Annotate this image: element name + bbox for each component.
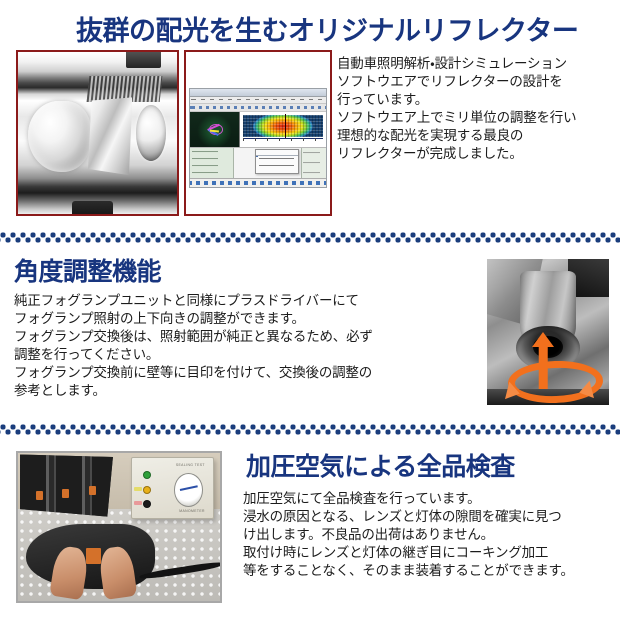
status-led-off — [143, 500, 151, 508]
dotted-divider-1 — [0, 232, 620, 244]
reflector-tab — [126, 50, 161, 68]
operator-hand-left — [49, 545, 89, 600]
lamp-connector-1 — [36, 491, 43, 500]
software-upper-panes — [190, 112, 326, 148]
heatmap-axis-ticks — [243, 138, 322, 144]
software-toolbar — [190, 104, 326, 112]
operator-hand-right — [97, 545, 136, 600]
software-menubar — [190, 97, 326, 104]
illuminance-plot — [240, 112, 326, 147]
section-body-reflector: 自動車照明解析・設計シミュレーション ソフトウエアでリフレクターの設計を 行って… — [337, 55, 613, 163]
parameters-pane — [301, 148, 326, 178]
up-arrow-icon — [532, 332, 554, 347]
properties-dialog-titlebar — [256, 150, 298, 156]
lamp-connector-3 — [89, 486, 96, 495]
properties-dialog — [255, 149, 299, 174]
model-canvas-pane — [234, 148, 326, 178]
device-label-tag-yellow — [134, 487, 142, 491]
manometer-needle — [180, 485, 198, 491]
section-body-pressure-test: 加圧空気にて全品検査を行っています。 浸水の原因となる、レンズと灯体の隙間を確実… — [243, 490, 615, 580]
software-window — [186, 52, 330, 214]
reflector-mount-foot — [72, 201, 113, 216]
software-body — [190, 112, 326, 178]
raytrace-viewport — [190, 112, 240, 147]
sealing-test-device: SEALING TEST MANOMETER — [131, 457, 214, 518]
illuminance-heatmap — [243, 115, 322, 137]
software-statusbar — [190, 178, 326, 187]
bench-scene: SEALING TEST MANOMETER — [18, 453, 220, 601]
manometer-gauge — [174, 473, 203, 507]
dotted-divider-2 — [0, 424, 620, 436]
reflector-facet-mid — [88, 97, 133, 175]
heatmap-crosshair — [285, 114, 286, 137]
device-label-tag-red — [134, 501, 142, 505]
reflector-facet-large — [28, 101, 92, 172]
properties-dialog-fields — [259, 158, 294, 168]
software-shell — [189, 88, 327, 188]
status-led-green — [143, 471, 151, 479]
section-body-angle-adjust: 純正フォグランプユニットと同様にプラスドライバーにて フォグランプ照射の上下向き… — [14, 292, 476, 400]
section-heading-angle-adjust: 角度調整機能 — [14, 260, 161, 285]
chrome-reflector-photo — [16, 50, 179, 216]
software-titlebar — [190, 89, 326, 97]
project-tree-pane — [190, 148, 235, 178]
section-heading-reflector: 抜群の配光を生むオリジナルリフレクター — [76, 18, 578, 45]
software-lower-panes — [190, 148, 326, 178]
lamp-units-row — [20, 454, 113, 516]
reflector-body — [18, 52, 177, 214]
status-led-yellow — [143, 486, 151, 494]
product-description-page: 抜群の配光を生むオリジナルリフレクター — [0, 0, 620, 620]
section-heading-pressure-test: 加圧空気による全品検査 — [246, 455, 515, 480]
device-title-label: SEALING TEST — [176, 463, 205, 467]
lighting-simulation-software-screenshot — [184, 50, 332, 216]
sealing-test-bench-photo: SEALING TEST MANOMETER — [16, 451, 222, 603]
operator-hands — [38, 539, 163, 598]
screw-housing — [487, 259, 609, 405]
adjustment-screw-photo-with-orange-arrows — [487, 259, 609, 405]
device-subtitle-label: MANOMETER — [179, 509, 205, 513]
lamp-connector-2 — [62, 489, 69, 498]
reflector-bulb-opening — [136, 105, 166, 160]
